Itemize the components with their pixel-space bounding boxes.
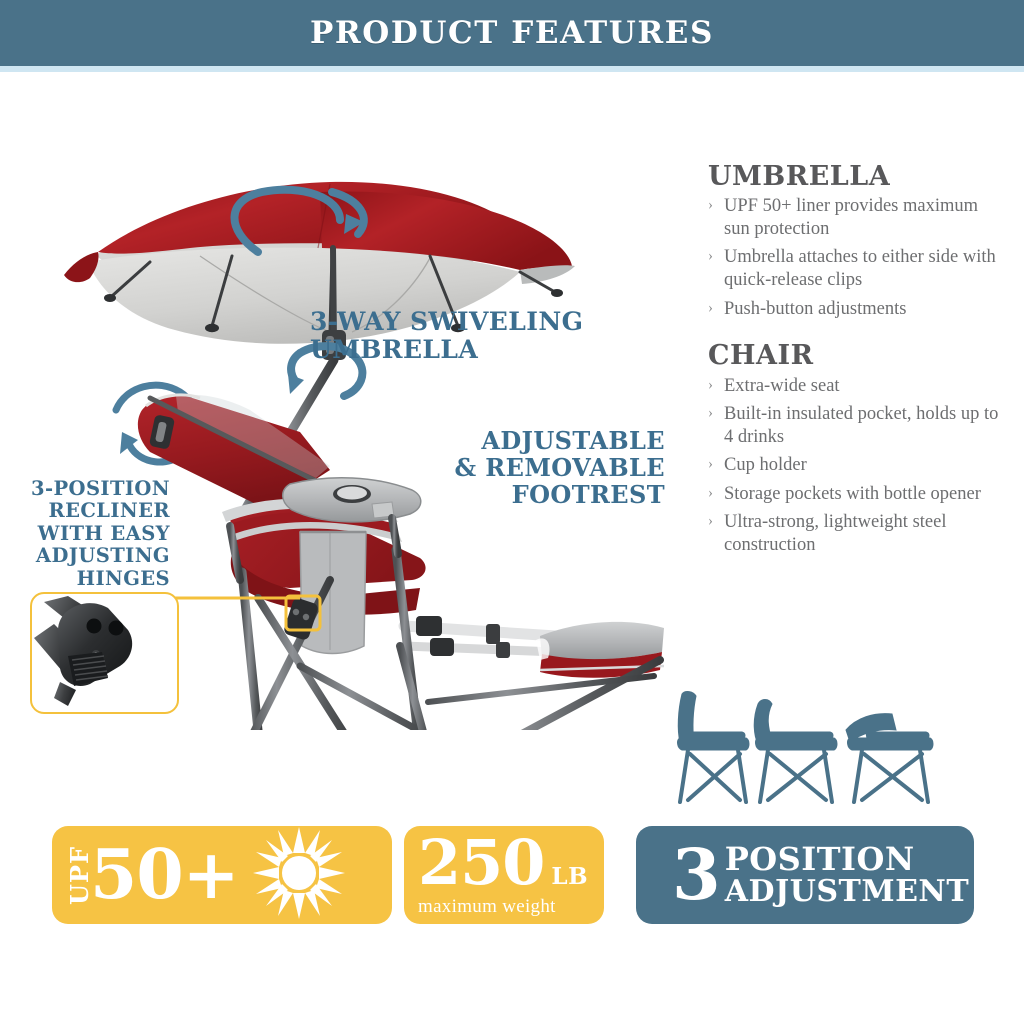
spec-item-text: Umbrella attaches to either side with qu…: [724, 247, 996, 290]
weight-inner: 250 LB maximum weight: [404, 832, 604, 918]
upf-value: 50+: [90, 841, 239, 909]
bullet-chevron-icon: ›: [708, 511, 713, 532]
chair-icon-full-recline: [846, 714, 933, 802]
callout-footrest-line2: & REMOVABLE: [450, 455, 665, 482]
header-bar: PRODUCT FEATURES: [0, 0, 1024, 66]
spec-item: › Cup holder: [708, 454, 1008, 477]
footrest-straps: [404, 616, 556, 658]
spec-item: › Push-button adjustments: [708, 298, 1008, 321]
spec-item: › UPF 50+ liner provides maximum sun pro…: [708, 195, 1008, 240]
bullet-chevron-icon: ›: [708, 454, 713, 475]
callout-footrest-line1: ADJUSTABLE: [450, 428, 665, 455]
spec-item: › Umbrella attaches to either side with …: [708, 246, 1008, 291]
weight-unit: LB: [551, 863, 588, 890]
spec-item-text: Push-button adjustments: [724, 299, 906, 319]
callout-3-position-recliner: 3-POSITION RECLINER WITH EASY ADJUSTING …: [20, 478, 170, 590]
upf-label: UPF: [65, 845, 94, 904]
position-line2: ADJUSTMENT: [725, 877, 969, 907]
spec-item-text: UPF 50+ liner provides maximum sun prote…: [724, 196, 978, 239]
callout-umbrella-line1: 3-WAY SWIVELING: [310, 308, 600, 336]
chair-icon-upright: [678, 692, 749, 802]
position-inner: 3 POSITION ADJUSTMENT: [636, 843, 974, 907]
page-title: PRODUCT FEATURES: [310, 15, 714, 51]
specifications-column: UMBRELLA › UPF 50+ liner provides maximu…: [708, 163, 1008, 562]
bullet-chevron-icon: ›: [708, 298, 713, 319]
spec-item: › Built-in insulated pocket, holds up to…: [708, 403, 1008, 448]
badge-max-weight: 250 LB maximum weight: [404, 826, 604, 924]
spec-heading-umbrella: UMBRELLA: [708, 163, 1008, 191]
bullet-chevron-icon: ›: [708, 375, 713, 396]
swivel-arrow-pole-head: [288, 374, 304, 394]
bullet-chevron-icon: ›: [708, 246, 713, 267]
position-value: 3: [672, 843, 719, 907]
spec-list-umbrella: › UPF 50+ liner provides maximum sun pro…: [708, 195, 1008, 320]
spec-item: › Ultra-strong, lightweight steel constr…: [708, 511, 1008, 556]
callout-recliner-line5: HINGES: [20, 568, 170, 590]
bullet-chevron-icon: ›: [708, 483, 713, 504]
infographic-page: PRODUCT FEATURES: [0, 0, 1024, 1024]
callout-footrest-line3: FOOTREST: [450, 482, 665, 509]
upf-label-wrap: UPF: [64, 861, 94, 890]
weight-caption: maximum weight: [418, 896, 604, 918]
chair-icon-mid-recline: [754, 700, 837, 803]
spec-item: › Storage pockets with bottle opener: [708, 483, 1008, 506]
insulated-pocket: [300, 532, 366, 654]
badge-row: UPF 50+: [0, 826, 1024, 930]
badge-upf: UPF 50+: [52, 826, 392, 924]
bullet-chevron-icon: ›: [708, 195, 713, 216]
callout-adjustable-footrest: ADJUSTABLE & REMOVABLE FOOTREST: [450, 428, 665, 509]
weight-value: 250: [418, 832, 544, 894]
spec-item-text: Cup holder: [724, 455, 807, 475]
spec-list-chair: › Extra-wide seat › Built-in insulated p…: [708, 375, 1008, 557]
bullet-chevron-icon: ›: [708, 403, 713, 424]
cup-holder-table: [283, 478, 421, 522]
spec-item-text: Storage pockets with bottle opener: [724, 484, 981, 504]
header-underline: [0, 66, 1024, 72]
position-line1: POSITION: [725, 843, 969, 875]
callout-recliner-line2: RECLINER: [20, 500, 170, 522]
spec-heading-chair: CHAIR: [708, 342, 1008, 370]
spec-group-chair: CHAIR › Extra-wide seat › Built-in insul…: [708, 342, 1008, 556]
position-lines: POSITION ADJUSTMENT: [725, 843, 969, 907]
weight-row: 250 LB: [418, 832, 604, 894]
callout-recliner-line3: WITH EASY: [20, 523, 170, 545]
sun-icon: [253, 827, 345, 924]
callout-swiveling-umbrella: 3-WAY SWIVELING UMBRELLA: [310, 308, 600, 364]
hinge-closeup-inset: [30, 592, 179, 714]
spec-item-text: Extra-wide seat: [724, 376, 840, 396]
callout-recliner-line4: ADJUSTING: [20, 545, 170, 567]
spec-item-text: Ultra-strong, lightweight steel construc…: [724, 512, 946, 555]
spec-item: › Extra-wide seat: [708, 375, 1008, 398]
spec-item-text: Built-in insulated pocket, holds up to 4…: [724, 404, 998, 447]
callout-recliner-line1: 3-POSITION: [20, 478, 170, 500]
callout-umbrella-line2: UMBRELLA: [310, 336, 600, 364]
badge-position-adjustment: 3 POSITION ADJUSTMENT: [636, 826, 974, 924]
recline-position-icons: [660, 682, 970, 807]
spec-group-umbrella: UMBRELLA › UPF 50+ liner provides maximu…: [708, 163, 1008, 320]
